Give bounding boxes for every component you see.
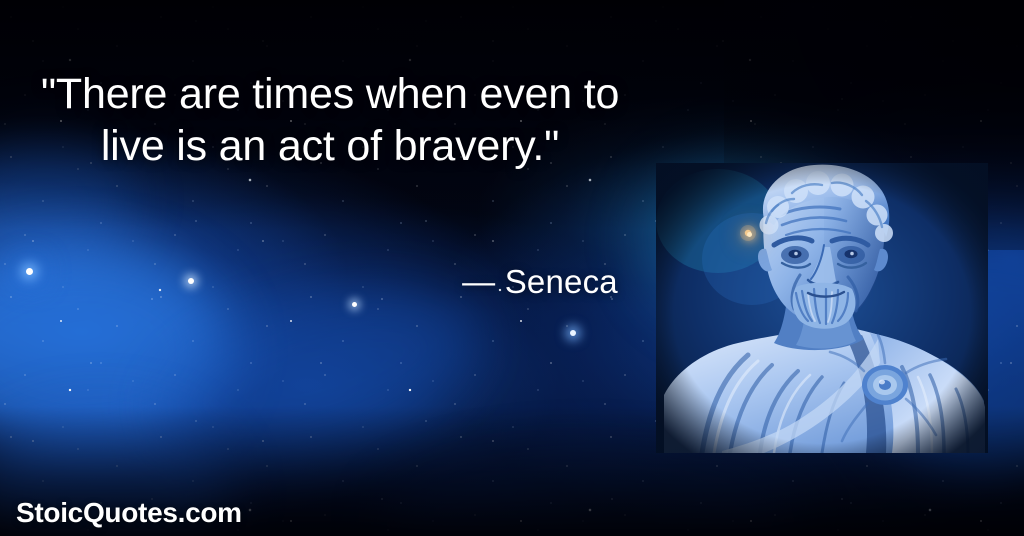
bright-star — [570, 330, 576, 336]
bright-star-amber — [747, 232, 752, 237]
site-watermark: StoicQuotes.com — [16, 496, 242, 530]
bright-star — [352, 302, 357, 307]
quote-image-canvas: "There are times when even to live is an… — [0, 0, 1024, 536]
quote-attribution: — Seneca — [0, 262, 1024, 302]
quote-text: "There are times when even to live is an… — [0, 68, 660, 172]
seneca-portrait — [656, 163, 988, 453]
seneca-portrait-illustration — [656, 163, 988, 453]
